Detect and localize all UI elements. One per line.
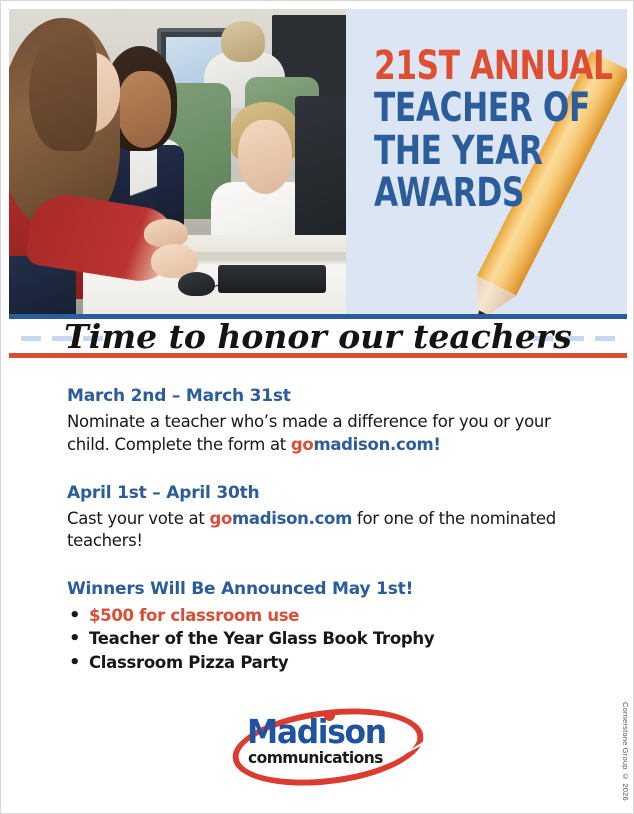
nominate-url-go[interactable]: go (291, 435, 314, 454)
winners-section: Winners Will Be Announced May 1st! $500 … (67, 579, 587, 674)
headline-line-1: 21ST ANNUAL (374, 47, 561, 85)
photo-boy-face (238, 120, 292, 194)
photo-girl-face (117, 71, 171, 148)
logo-subtitle: communications (248, 748, 383, 767)
tagline-banner: Time to honor our teachers (9, 319, 627, 357)
headline-line-3: THE YEAR (374, 132, 561, 170)
vote-heading: April 1st – April 30th (67, 483, 587, 503)
nominate-body: Nominate a teacher who’s made a differen… (67, 411, 587, 457)
blue-divider-rule (9, 314, 627, 319)
list-item: $500 for classroom use (67, 604, 587, 627)
content-area: March 2nd – March 31st Nominate a teache… (67, 386, 587, 674)
headline: 21ST ANNUAL TEACHER OF THE YEAR AWARDS (374, 47, 614, 217)
red-divider-rule (9, 353, 627, 358)
nominate-heading: March 2nd – March 31st (67, 386, 587, 406)
list-item: Classroom Pizza Party (67, 651, 587, 674)
photo-background-student-head (221, 21, 265, 61)
photo-student-hand (144, 219, 188, 247)
list-item: Teacher of the Year Glass Book Trophy (67, 627, 587, 650)
nominate-url-rest[interactable]: madison.com! (313, 435, 440, 454)
photo-teacher-hair-front (29, 28, 96, 152)
photo-mouse (178, 272, 215, 297)
hero-section: 21ST ANNUAL TEACHER OF THE YEAR AWARDS (9, 9, 627, 318)
headline-line-4: AWARDS (374, 174, 561, 212)
vote-section: April 1st – April 30th Cast your vote at… (67, 483, 587, 554)
madison-communications-logo: Madison communications (232, 704, 412, 776)
logo-dot-icon (324, 710, 335, 721)
vote-url-go[interactable]: go (209, 509, 232, 528)
flyer-page: 21ST ANNUAL TEACHER OF THE YEAR AWARDS T… (0, 0, 634, 814)
headline-panel: 21ST ANNUAL TEACHER OF THE YEAR AWARDS (346, 9, 627, 318)
photo-keyboard (218, 265, 326, 293)
vote-body: Cast your vote at gomadison.com for one … (67, 508, 587, 554)
prize-list: $500 for classroom use Teacher of the Ye… (67, 604, 587, 674)
vote-url-rest[interactable]: madison.com (232, 509, 352, 528)
classroom-photo (9, 9, 346, 318)
vote-text-before: Cast your vote at (67, 509, 209, 528)
tagline-script-text: Time to honor our teachers (9, 317, 627, 356)
winners-heading: Winners Will Be Announced May 1st! (67, 579, 587, 599)
headline-line-2: TEACHER OF (374, 89, 561, 127)
credit-text: Cornerstone Group © 2026 (621, 702, 630, 801)
logo-wordmark: Madison (247, 712, 386, 751)
nominate-section: March 2nd – March 31st Nominate a teache… (67, 386, 587, 457)
